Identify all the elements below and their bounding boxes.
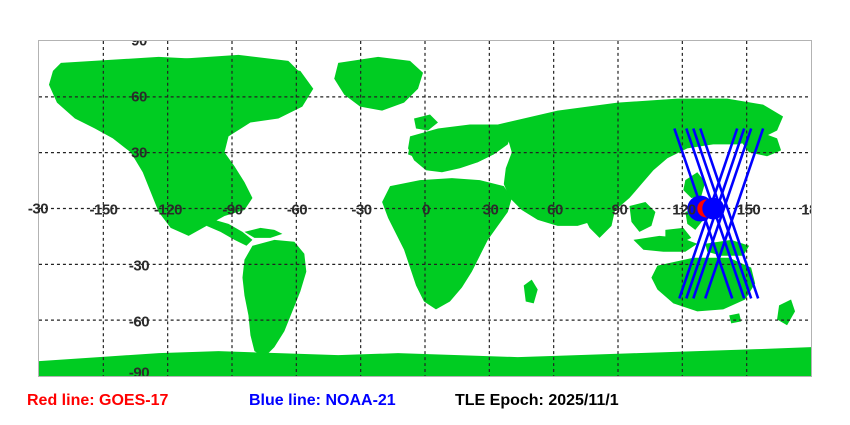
lon-tick-90: 90 bbox=[612, 201, 628, 218]
legend-red-line: Red line: GOES-17 bbox=[27, 392, 168, 410]
lon-tick-60: 60 bbox=[547, 201, 563, 218]
lat-tick--90: -90 bbox=[129, 365, 149, 378]
lon-tick--30-outside: -30 bbox=[28, 200, 48, 217]
legend: Red line: GOES-17 Blue line: NOAA-21 TLE… bbox=[0, 392, 850, 422]
lon-tick-0: 0 bbox=[422, 201, 430, 218]
lon-tick-180-right: 180 bbox=[801, 201, 812, 218]
lat-tick-30: 30 bbox=[131, 145, 147, 162]
lon-tick--90: -90 bbox=[222, 201, 242, 218]
map-plot-area: -150 -120 -90 -60 -30 0 30 60 90 120 150… bbox=[38, 40, 812, 377]
lon-tick--120: -120 bbox=[154, 201, 182, 218]
lon-tick-120: 120 bbox=[672, 201, 696, 218]
legend-blue-line: Blue line: NOAA-21 bbox=[249, 392, 396, 410]
lon-tick--150: -150 bbox=[89, 201, 117, 218]
lon-tick--30: -30 bbox=[351, 201, 371, 218]
lon-tick-30: 30 bbox=[483, 201, 499, 218]
lon-tick--60: -60 bbox=[287, 201, 307, 218]
legend-tle-epoch: TLE Epoch: 2025/11/1 bbox=[455, 392, 619, 410]
lat-tick-90: 90 bbox=[131, 40, 147, 50]
satellite-ground-track-map: -150 -120 -90 -60 -30 0 30 60 90 120 150… bbox=[0, 0, 850, 425]
noaa21-marker-overlap bbox=[702, 198, 724, 220]
lat-tick--30: -30 bbox=[129, 257, 149, 274]
lat-tick-60: 60 bbox=[131, 89, 147, 106]
lon-tick-150: 150 bbox=[737, 201, 761, 218]
lat-tick--60: -60 bbox=[129, 313, 149, 330]
